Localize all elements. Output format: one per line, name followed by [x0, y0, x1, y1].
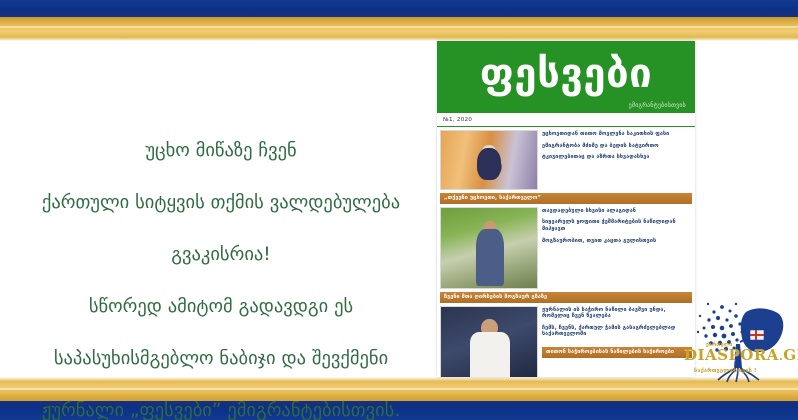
headline[interactable]: სიყვარულს ყოფითი ჭეშმარიტების ნაწილიდან … [542, 219, 692, 232]
cover-strip-1: „თქვენი უცხოეთი, საქართველო” [440, 193, 692, 204]
cover-strip-2: ჩვენი მთა ღირსების მოგზაურ გზაზე [440, 292, 692, 303]
message-line-1: უცხო მიწაზე ჩვენ [6, 138, 436, 164]
headline[interactable]: ემიგრანტობა მძიმე და ბედის სატვირთო [542, 143, 692, 150]
cover-headlines-2: თავდადებული სხვისი ალაგიდან სიყვარულს ყო… [542, 207, 692, 289]
logo-caption-bottom: საქართველოსთვის ! [694, 368, 757, 374]
headline[interactable]: ჩემს, ჩვენს, ქართულ ჭამის გასაგრძელებლად… [542, 325, 692, 338]
diaspora-ge-logo[interactable]: ქართული DIASPORA.GE საქართველოსთვის ! [684, 282, 792, 390]
magazine-cover[interactable]: ფესვები ემიგრანტებისთვის №1, 2020 უცხოეთ… [437, 41, 695, 377]
message-line-5: საპასუხისმგებლო ნაბიჯი და შევქმენი [6, 346, 436, 372]
cover-headlines-3: ჟურნალის ის საჭირო ნაწილი ბავშვი უნდა, რ… [542, 306, 692, 377]
headline[interactable]: თავდადებული სხვისი ალაგიდან [542, 208, 692, 215]
logo-word-diaspora: DIASPORA [684, 346, 779, 364]
headline[interactable]: ტკივილებითაც და აზრთა სხვადასხვა [542, 154, 692, 161]
message-text: უცხო მიწაზე ჩვენ ქართული სიტყვის თქმის ვ… [6, 112, 436, 420]
headline[interactable]: ჟურნალის ის საჭირო ნაწილი ბავშვი უნდა, რ… [542, 307, 692, 320]
cover-headlines-1: უცხოეთიდან თითო მოვლენა საკითხის ფასი ემ… [542, 130, 692, 190]
cover-issue-bar: №1, 2020 [437, 113, 695, 127]
cover-block-2[interactable]: თავდადებული სხვისი ალაგიდან სიყვარულს ყო… [440, 207, 692, 289]
message-line-2: ქართული სიტყვის თქმის ვალდებულება [6, 190, 436, 216]
cover-body: უცხოეთიდან თითო მოვლენა საკითხის ფასი ემ… [437, 127, 695, 377]
cover-title: ფესვები [480, 54, 652, 94]
clergyman-photo [440, 130, 538, 190]
young-man-photo [440, 207, 538, 289]
cover-block-3[interactable]: ჟურნალის ის საჭირო ნაწილი ბავშვი უნდა, რ… [440, 306, 692, 377]
logo-word-ge: GE [783, 346, 798, 364]
logo-wordmark: DIASPORA.GE [684, 346, 792, 364]
headline[interactable]: უცხოეთიდან თითო მოვლენა საკითხის ფასი [542, 131, 692, 138]
message-line-3: გვაკისრია! [6, 242, 436, 268]
cover-subtitle: ემიგრანტებისთვის [629, 102, 686, 109]
top-gold-band [0, 17, 798, 41]
banner-slide: უცხო მიწაზე ჩვენ ქართული სიტყვის თქმის ვ… [0, 0, 798, 420]
cover-masthead: ფესვები ემიგრანტებისთვის [437, 41, 695, 113]
chef-photo [440, 306, 538, 377]
cover-issue-number: №1, 2020 [443, 117, 472, 123]
headline[interactable]: მოგზაურობით, თვით კაცთა გულისთვის [542, 238, 692, 245]
top-blue-band [0, 0, 798, 17]
message-line-6: ჟურნალი „ფესვები” ემიგრანტებისთვის. [6, 398, 436, 420]
gold-sheen-top [0, 26, 798, 28]
message-line-4: სწორედ ამიტომ გადავდგი ეს [6, 294, 436, 320]
cover-block-1[interactable]: უცხოეთიდან თითო მოვლენა საკითხის ფასი ემ… [440, 130, 692, 190]
cover-strip-3: თითონ საჭიროებისას ნაწილების საჭიროები [542, 347, 692, 358]
